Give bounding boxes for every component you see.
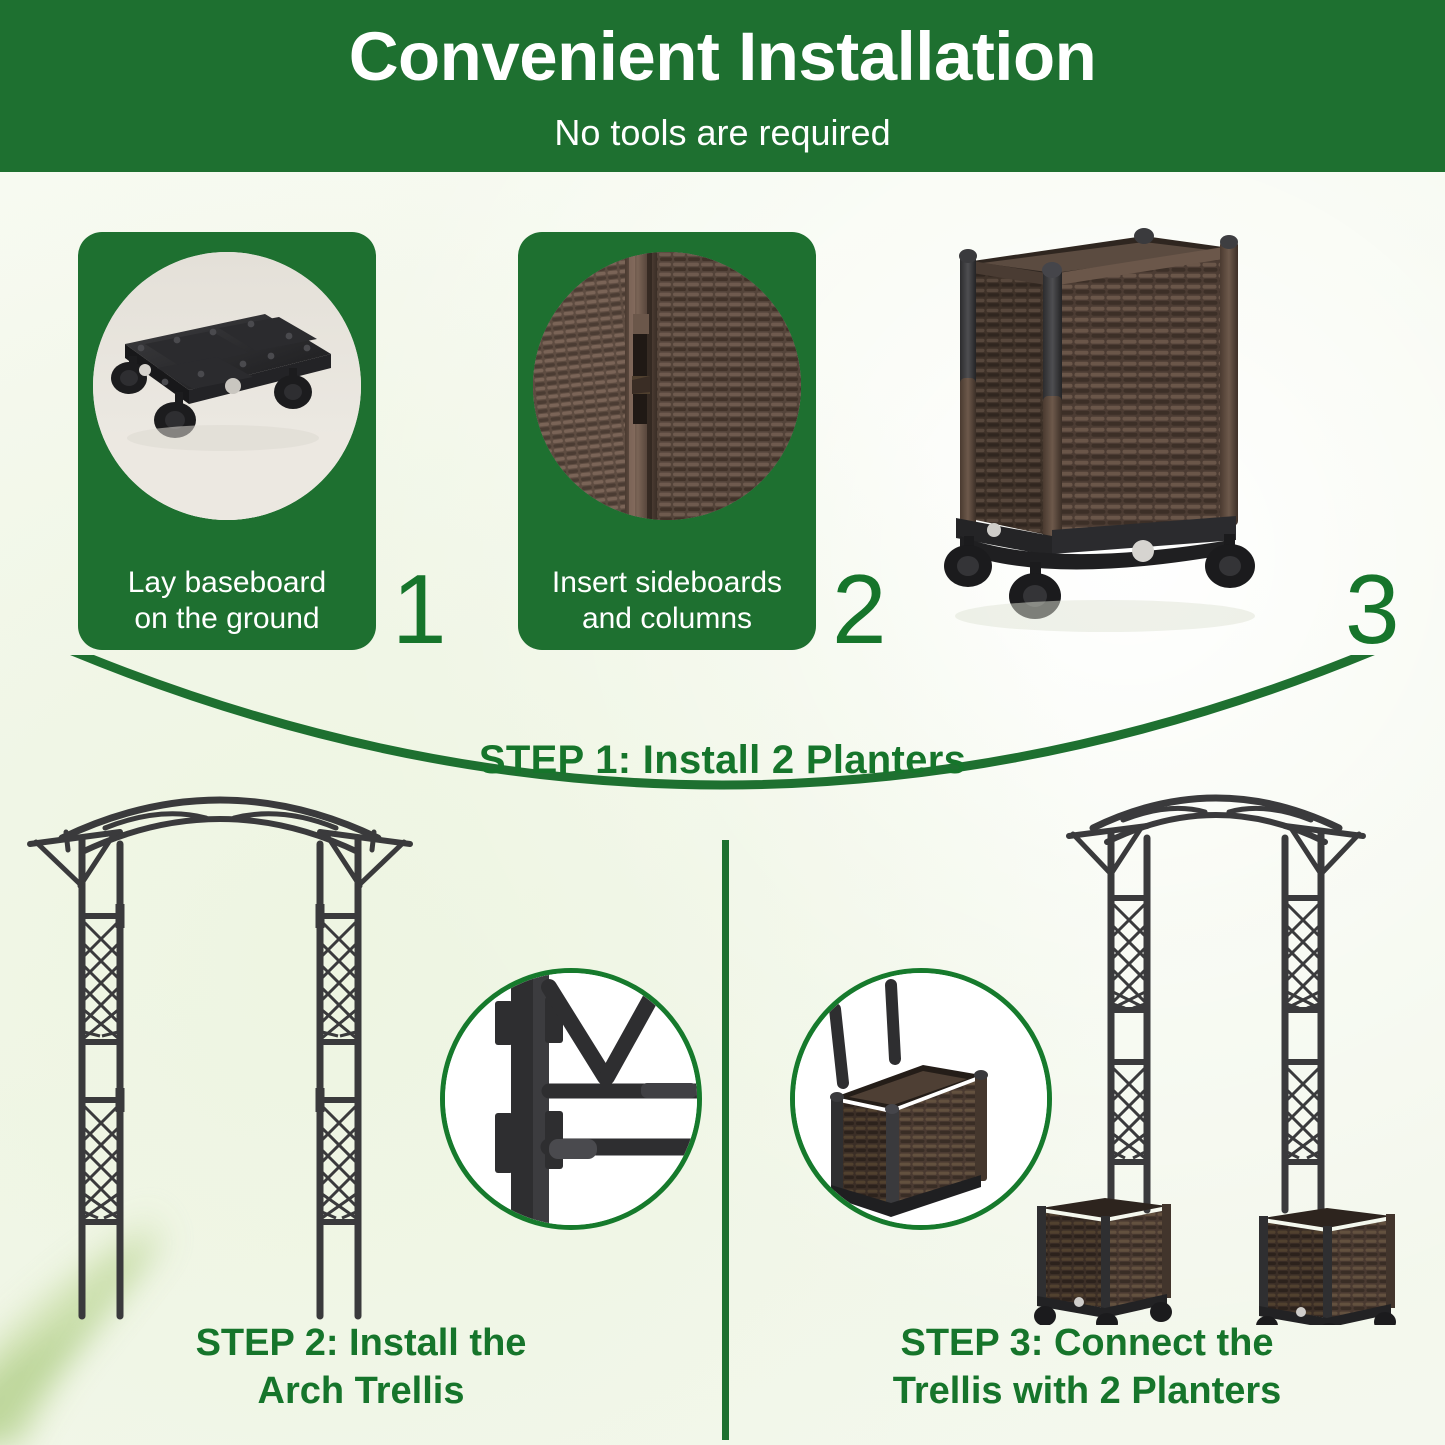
step-2-panel-label-line2: Arch Trellis: [0, 1368, 722, 1416]
vertical-section-divider: [722, 840, 729, 1440]
infographic-page: Convenient Installation No tools are req…: [0, 0, 1445, 1445]
page-subtitle: No tools are required: [0, 91, 1445, 151]
rattan-weave-column-joint-photo: [533, 252, 801, 520]
step-number-2: 2: [832, 560, 887, 658]
step-1-caption-line2: on the ground: [86, 601, 368, 636]
planter-trellis-insert-detail-circle: [790, 968, 1052, 1230]
step-2-panel-label-line1: STEP 2: Install the: [0, 1320, 722, 1368]
step-2-caption-line1: Insert sideboards: [526, 565, 808, 600]
page-header: Convenient Installation No tools are req…: [0, 0, 1445, 172]
step-1-caption-line1: Lay baseboard: [86, 565, 368, 600]
page-title: Convenient Installation: [0, 0, 1445, 91]
step-3-panel-label-line2: Trellis with 2 Planters: [729, 1368, 1445, 1416]
step-number-3: 3: [1345, 560, 1400, 658]
arch-trellis-illustration: [10, 780, 430, 1320]
step-3-panel-label: STEP 3: Connect the Trellis with 2 Plant…: [729, 1320, 1445, 1415]
step-3-panel-label-line1: STEP 3: Connect the: [729, 1320, 1445, 1368]
step-number-1: 1: [392, 560, 447, 658]
trellis-with-two-planters-illustration: [1001, 780, 1431, 1325]
baseboard-with-casters-photo: [93, 252, 361, 520]
step-2-panel-label: STEP 2: Install the Arch Trellis: [0, 1320, 722, 1415]
step-2-panel: STEP 2: Install the Arch Trellis: [0, 775, 722, 1445]
step-2-caption: Insert sideboards and columns: [518, 565, 816, 636]
step-card-2: Insert sideboards and columns: [518, 232, 816, 650]
assembled-rattan-planter-render: [930, 218, 1340, 658]
step-2-caption-line2: and columns: [526, 601, 808, 636]
step-3-panel: STEP 3: Connect the Trellis with 2 Plant…: [729, 775, 1445, 1445]
trellis-joint-detail-circle: [440, 968, 702, 1230]
step-1-caption: Lay baseboard on the ground: [78, 565, 376, 636]
step-card-1: Lay baseboard on the ground: [78, 232, 376, 650]
